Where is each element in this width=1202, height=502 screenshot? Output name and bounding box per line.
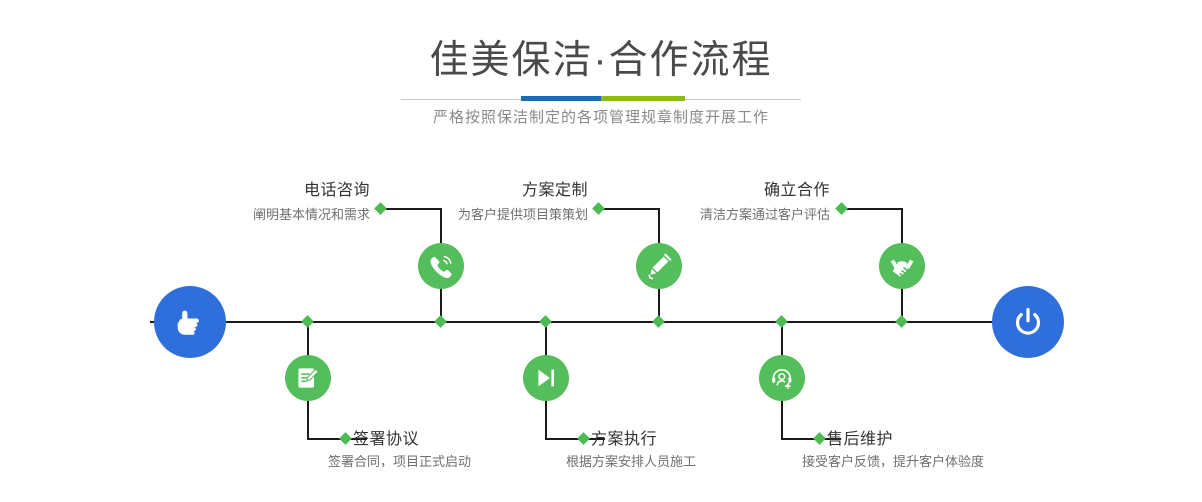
page-subtitle: 严格按照保洁制定的各项管理规章制度开展工作 [0, 107, 1202, 129]
axis-marker-top-2 [652, 315, 665, 328]
timeline-end-node[interactable] [992, 286, 1064, 358]
branch-marker-bottom-1 [339, 432, 352, 445]
process-flow-timeline: 电话咨询 阐明基本情况和需求 方案定制 为客户提供项目策策划 确立 [0, 150, 1202, 502]
axis-marker-bottom-1 [301, 315, 314, 328]
step-icon-bottom-2[interactable] [523, 355, 569, 401]
step-label-top-2: 方案定制 [338, 181, 588, 201]
step-desc-bottom-3: 接受客户反馈，提升客户体验度 [802, 453, 1162, 471]
pointing-hand-icon [170, 302, 210, 342]
customer-service-icon [769, 365, 795, 391]
axis-marker-bottom-2 [539, 315, 552, 328]
play-next-icon [533, 365, 559, 391]
step-icon-top-2[interactable] [636, 243, 682, 289]
phone-call-icon [427, 252, 455, 280]
axis-marker-top-3 [895, 315, 908, 328]
axis-marker-top-1 [434, 315, 447, 328]
handshake-icon [888, 252, 916, 280]
step-icon-bottom-3[interactable] [759, 355, 805, 401]
step-icon-top-3[interactable] [879, 243, 925, 289]
power-icon [1008, 302, 1048, 342]
document-sign-icon [295, 365, 321, 391]
title-divider [401, 96, 801, 102]
divider-segment-blue [521, 96, 601, 101]
branch-arm-top-3 [842, 208, 902, 210]
step-label-top-1: 电话咨询 [120, 181, 370, 201]
timeline-start-node[interactable] [154, 286, 226, 358]
branch-marker-top-3 [835, 202, 848, 215]
step-icon-top-1[interactable] [418, 243, 464, 289]
pencil-edit-icon [645, 252, 673, 280]
axis-marker-bottom-3 [775, 315, 788, 328]
timeline-axis [150, 321, 1053, 323]
divider-segment-green [601, 96, 685, 101]
page-title: 佳美保洁·合作流程 [0, 38, 1202, 84]
page-header: 佳美保洁·合作流程 严格按照保洁制定的各项管理规章制度开展工作 [0, 0, 1202, 150]
step-label-bottom-3: 售后维护 [827, 430, 1147, 450]
step-icon-bottom-1[interactable] [285, 355, 331, 401]
step-desc-top-3: 清洁方案通过客户评估 [540, 206, 830, 224]
step-label-top-3: 确立合作 [580, 181, 830, 201]
